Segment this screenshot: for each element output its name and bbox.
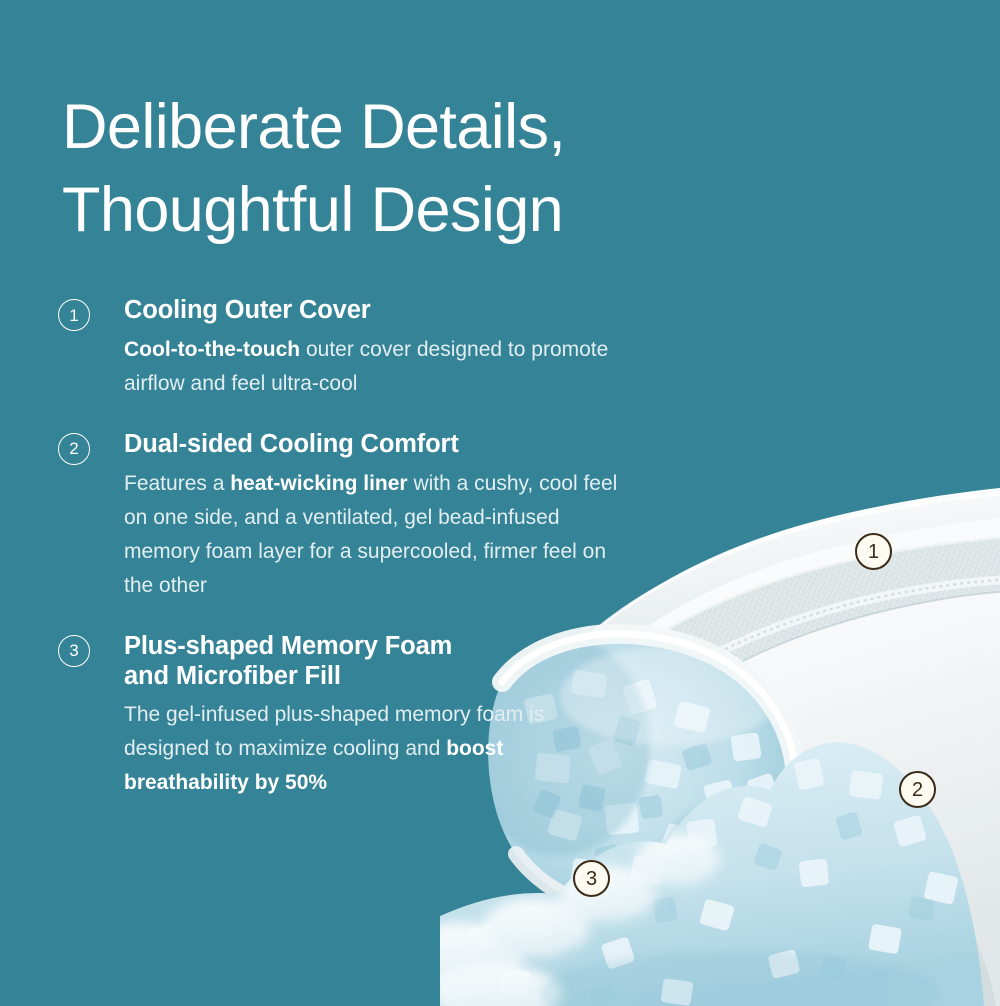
- photo-callout-1: 1: [855, 533, 892, 570]
- feature-number-3: 3: [69, 642, 78, 659]
- feature-title-3: Plus-shaped Memory Foam and Microfiber F…: [124, 632, 618, 692]
- feature-body-2-bold: heat-wicking liner: [230, 472, 407, 495]
- feature-body-1-bold: Cool-to-the-touch: [124, 338, 300, 361]
- infographic-canvas: Deliberate Details, Thoughtful Design 1 …: [0, 0, 1000, 1006]
- feature-number-badge-2: 2: [58, 433, 90, 465]
- feature-title-1: Cooling Outer Cover: [124, 296, 618, 326]
- feature-number-badge-1: 1: [58, 299, 90, 331]
- feature-title-3-line2: and Microfiber Fill: [124, 662, 341, 690]
- photo-callout-3-number: 3: [586, 869, 597, 889]
- feature-body-2: Features a heat-wicking liner with a cus…: [124, 467, 618, 603]
- photo-callout-1-number: 1: [868, 542, 879, 562]
- photo-callout-2: 2: [899, 771, 936, 808]
- pillow-body: [552, 488, 1000, 1006]
- feature-list: 1 Cooling Outer Cover Cool-to-the-touch …: [58, 296, 618, 800]
- feature-body-3: The gel-infused plus-shaped memory foam …: [124, 698, 618, 800]
- photo-callout-2-number: 2: [912, 780, 923, 800]
- feature-item-plus-shaped-memory-foam: 3 Plus-shaped Memory Foam and Microfiber…: [58, 632, 618, 801]
- feature-number-1: 1: [69, 307, 78, 324]
- headline-line-2: Thoughtful Design: [62, 169, 702, 252]
- feature-title-3-line1: Plus-shaped Memory Foam: [124, 632, 452, 660]
- headline-line-1: Deliberate Details,: [62, 86, 702, 169]
- photo-callout-3: 3: [573, 860, 610, 897]
- feature-title-2: Dual-sided Cooling Comfort: [124, 430, 618, 460]
- feature-number-2: 2: [69, 440, 78, 457]
- page-title: Deliberate Details, Thoughtful Design: [62, 86, 702, 252]
- feature-body-1: Cool-to-the-touch outer cover designed t…: [124, 333, 618, 401]
- feature-body-2-part1: Features a: [124, 472, 230, 495]
- feature-item-dual-sided-cooling-comfort: 2 Dual-sided Cooling Comfort Features a …: [58, 430, 618, 603]
- feature-item-cooling-outer-cover: 1 Cooling Outer Cover Cool-to-the-touch …: [58, 296, 618, 401]
- feature-number-badge-3: 3: [58, 635, 90, 667]
